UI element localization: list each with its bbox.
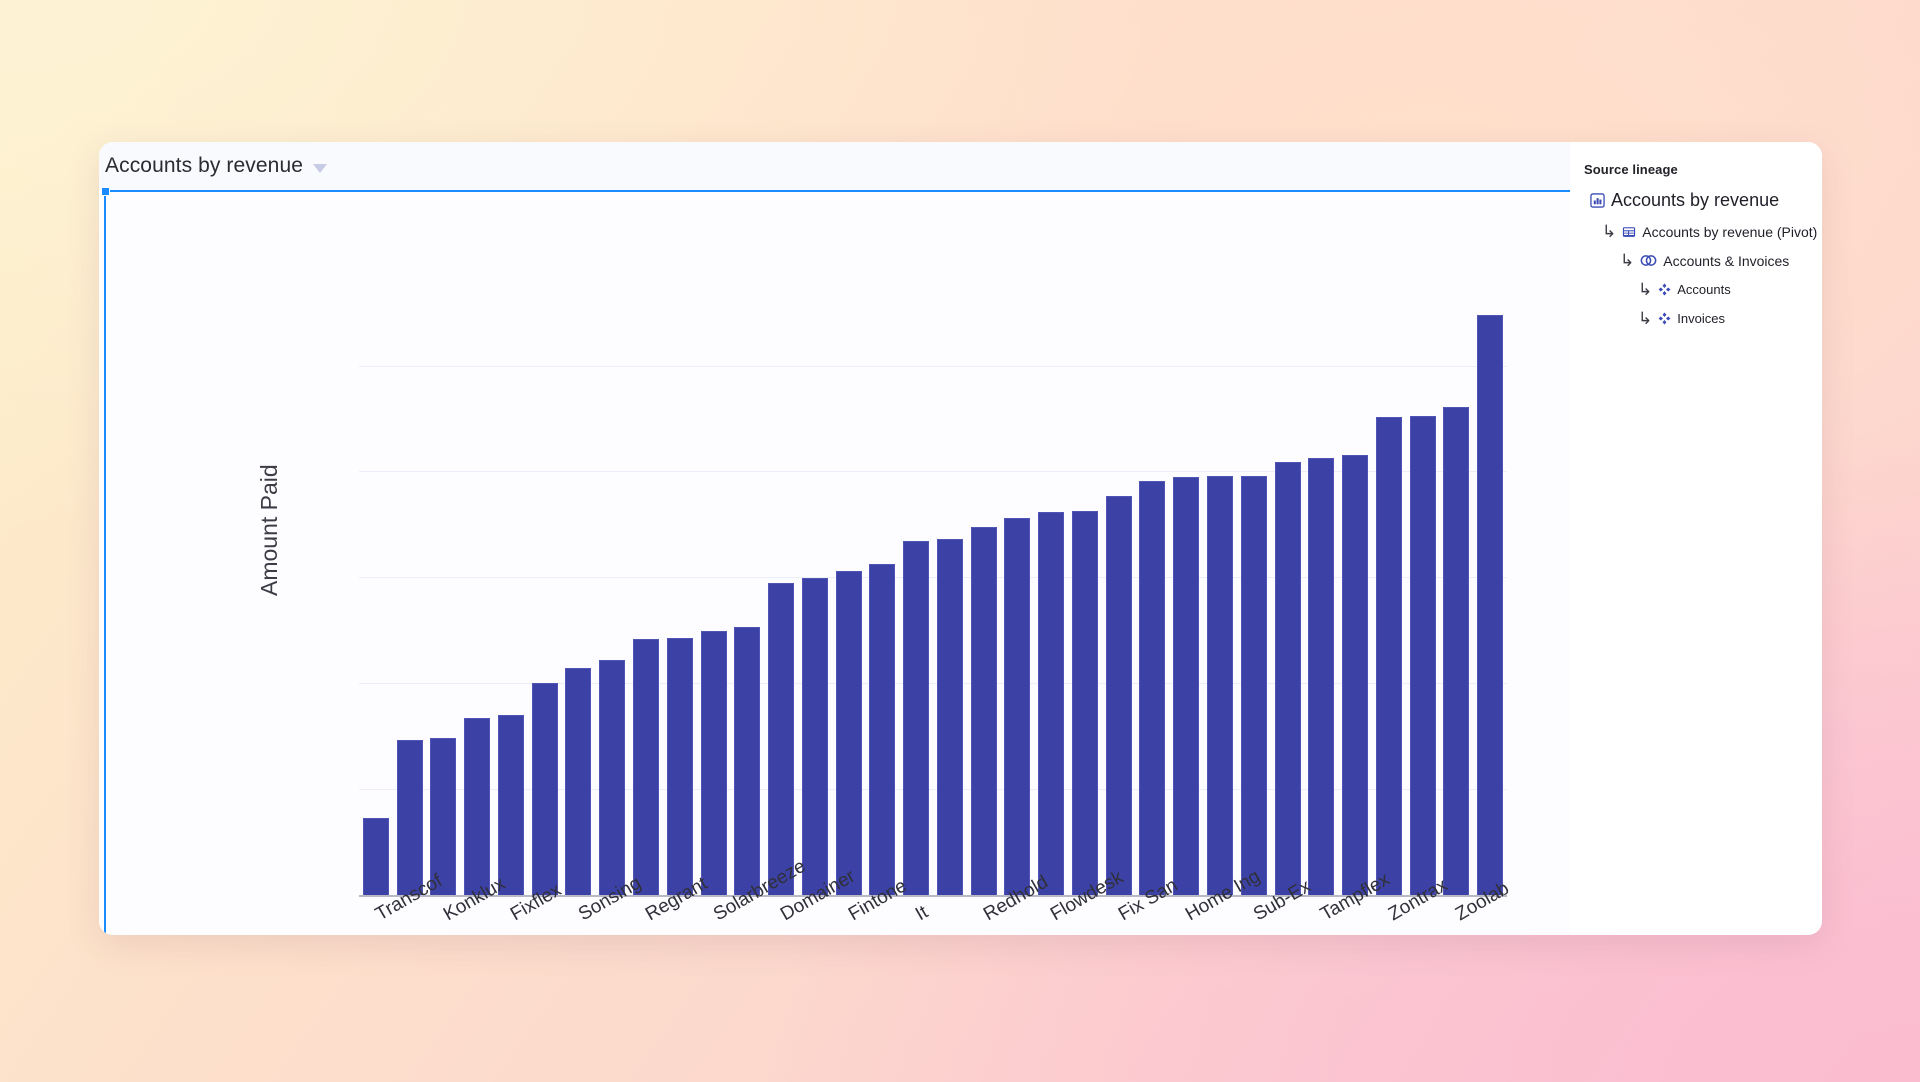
bar[interactable] (532, 683, 558, 895)
chart-icon (1590, 193, 1605, 208)
bar[interactable] (599, 660, 625, 895)
join-icon (1640, 254, 1657, 267)
bar[interactable] (633, 639, 659, 895)
bar[interactable] (1072, 511, 1098, 895)
lineage-branch-arrow-icon: ↳ (1638, 281, 1652, 298)
bar[interactable] (734, 627, 760, 895)
bar[interactable] (498, 715, 524, 895)
widget-titlebar: Accounts by revenue (99, 142, 1570, 190)
chart-pane: Accounts by revenue Amount Paid Accounts… (99, 142, 1570, 935)
bar[interactable] (1443, 407, 1469, 895)
bar[interactable] (1139, 481, 1165, 895)
gridline (359, 366, 1507, 367)
bar[interactable] (1004, 518, 1030, 895)
bar[interactable] (565, 668, 591, 895)
bar[interactable] (1207, 476, 1233, 895)
bar[interactable] (1275, 462, 1301, 895)
lineage-branch-arrow-icon: ↳ (1602, 223, 1616, 240)
bar[interactable] (701, 631, 727, 895)
bar[interactable] (363, 818, 389, 895)
y-axis-title: Amount Paid (256, 464, 283, 596)
resize-handle-top-left[interactable] (101, 187, 110, 196)
bar[interactable] (1376, 417, 1402, 895)
bar[interactable] (1241, 476, 1267, 895)
table-icon (1622, 225, 1636, 239)
dashboard-card: Accounts by revenue Amount Paid Accounts… (99, 142, 1822, 935)
lineage-node[interactable]: Accounts by revenue (1590, 190, 1822, 211)
object-icon (1658, 312, 1671, 325)
lineage-node-label: Accounts by revenue (1611, 190, 1779, 211)
object-icon (1658, 283, 1671, 296)
x-axis-tick-label: It (912, 902, 932, 926)
bar[interactable] (937, 539, 963, 895)
source-lineage-pane: Source lineage Accounts by revenue↳Accou… (1570, 142, 1822, 935)
source-lineage-list: Accounts by revenue↳Accounts by revenue … (1584, 190, 1822, 327)
lineage-node[interactable]: ↳Invoices (1638, 310, 1822, 327)
widget-selection-frame[interactable]: Amount Paid Accounts $0$100$200$300$400$… (104, 190, 1640, 935)
bar[interactable] (464, 718, 490, 895)
bar[interactable] (1173, 477, 1199, 895)
bar[interactable] (971, 527, 997, 896)
bar[interactable] (1410, 416, 1436, 895)
lineage-node-label: Invoices (1677, 311, 1725, 326)
x-axis-tick-labels: TranscofKonkluxFixflexSonsingRegrantSola… (359, 907, 1507, 935)
bar[interactable] (667, 638, 693, 895)
plot-area: $0$100$200$300$400$500 TranscofKonkluxFi… (359, 302, 1507, 895)
chevron-down-icon[interactable] (313, 164, 327, 173)
lineage-node-label: Accounts & Invoices (1663, 253, 1789, 269)
lineage-node[interactable]: ↳Accounts (1638, 281, 1822, 298)
bar[interactable] (869, 564, 895, 895)
bar[interactable] (1308, 458, 1334, 895)
bar[interactable] (768, 583, 794, 895)
lineage-branch-arrow-icon: ↳ (1638, 310, 1652, 327)
lineage-branch-arrow-icon: ↳ (1620, 252, 1634, 269)
widget-title[interactable]: Accounts by revenue (105, 154, 303, 178)
source-lineage-heading: Source lineage (1584, 162, 1822, 177)
bar[interactable] (1342, 455, 1368, 896)
lineage-node[interactable]: ↳Accounts by revenue (Pivot) (1602, 223, 1822, 240)
bar[interactable] (1477, 315, 1503, 895)
bar[interactable] (1038, 512, 1064, 895)
lineage-node-label: Accounts (1677, 282, 1730, 297)
lineage-node-label: Accounts by revenue (Pivot) (1642, 224, 1817, 240)
bar[interactable] (836, 571, 862, 895)
gridline (359, 577, 1507, 578)
bar[interactable] (1106, 496, 1132, 895)
bar[interactable] (397, 740, 423, 895)
bar[interactable] (903, 541, 929, 895)
bar[interactable] (802, 578, 828, 895)
lineage-node[interactable]: ↳Accounts & Invoices (1620, 252, 1822, 269)
gridline (359, 471, 1507, 472)
